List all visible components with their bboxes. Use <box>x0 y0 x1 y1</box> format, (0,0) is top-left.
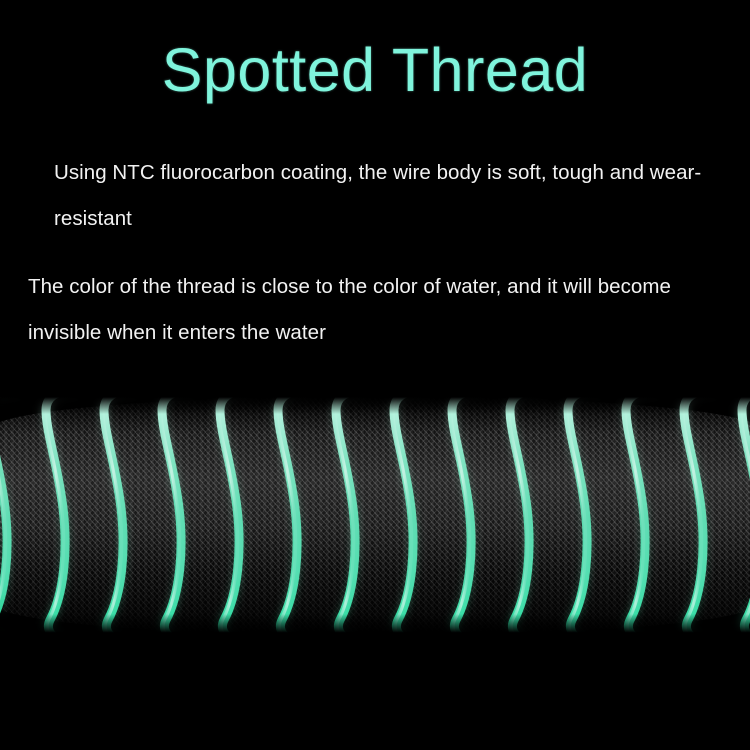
product-photo <box>0 388 750 644</box>
description-paragraph-2: The color of the thread is close to the … <box>0 264 750 356</box>
coils-svg <box>0 388 750 644</box>
description-block: Using NTC fluorocarbon coating, the wire… <box>0 150 750 356</box>
fishing-line-coils <box>0 388 750 644</box>
page-title: Spotted Thread <box>162 40 588 101</box>
page-title-container: Spotted Thread <box>0 0 750 140</box>
product-banner: Spotted Thread Using NTC fluorocarbon co… <box>0 0 750 750</box>
description-paragraph-1: Using NTC fluorocarbon coating, the wire… <box>0 150 750 242</box>
coil-group <box>0 390 750 638</box>
